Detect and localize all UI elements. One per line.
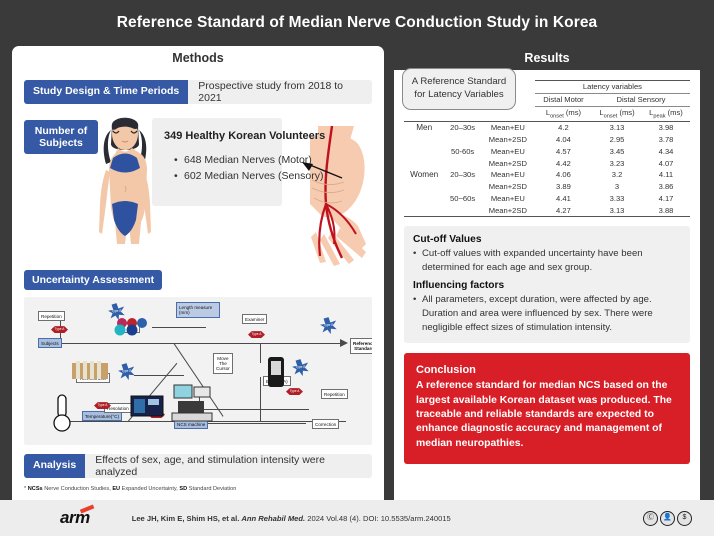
bullet-icon: • <box>413 247 422 274</box>
tape-dots-icon <box>112 315 158 337</box>
node-subjects: Subjects <box>38 338 62 348</box>
table-row: Mean+2SD 4.042.953.78 <box>404 134 690 146</box>
type-a-marker: Type A <box>51 326 68 333</box>
title-bar: Reference Standard of Median Nerve Condu… <box>0 0 714 46</box>
study-design-row: Study Design & Time Periods Prospective … <box>24 80 372 104</box>
type-b-marker: Type B <box>320 317 337 334</box>
subjects-block: Number of Subjects <box>24 118 372 268</box>
table-group-header: Latency variables <box>535 81 690 94</box>
subjects-headline: 349 Healthy Korean Volunteers <box>164 130 325 142</box>
cutoff-bullet: • Cut-off values with expanded uncertain… <box>413 247 681 274</box>
unit-sensory-peak: Lpeak (ms) <box>642 106 690 121</box>
results-body: A Reference Standard for Latency Variabl… <box>394 70 700 506</box>
conclusion-text: A reference standard for median NCS base… <box>416 379 678 451</box>
methods-footnote: * NCSs Nerve Conduction Studies, EU Expa… <box>24 486 372 493</box>
node-length-measure: Length measure (mm) <box>176 302 220 318</box>
table-row: 50-60sMean+EU 4.573.454.34 <box>404 145 690 157</box>
fishbone-diagram: Repetition Subjects Tape Length measure … <box>24 297 372 445</box>
col-distal-sensory: Distal Sensory <box>592 93 690 106</box>
influencing-heading: Influencing factors <box>413 280 681 291</box>
methods-body: Study Design & Time Periods Prospective … <box>12 70 384 506</box>
table-row: Mean+2SD 4.423.234.07 <box>404 157 690 169</box>
unit-motor-onset: Lonset (ms) <box>535 106 592 121</box>
thermometer-rack-icon <box>70 359 114 383</box>
tab-results-label: Results <box>524 51 569 65</box>
type-b-marker: Type B <box>118 363 135 380</box>
analysis-text: Effects of sex, age, and stimulation int… <box>85 454 372 478</box>
node-correction: Correction <box>312 419 339 429</box>
nc-icon: $ <box>677 511 692 526</box>
findings-box: Cut-off Values • Cut-off values with exp… <box>404 226 690 343</box>
table-row: Men20–30sMean+EU 4.23.133.98 <box>404 121 690 133</box>
type-b-marker: Type B <box>292 359 309 376</box>
conclusion-heading: Conclusion <box>416 364 678 376</box>
node-move-cursor: Move The Cursor <box>213 353 233 374</box>
node-repetition-top: Repetition <box>38 311 65 321</box>
panels-container: Methods Study Design & Time Periods Pros… <box>0 46 714 506</box>
table-row: Mean+2SD 3.8933.86 <box>404 181 690 193</box>
subjects-badge-line1: Number of <box>35 125 88 137</box>
license-badges: Ⓒ 👤 $ <box>643 511 692 526</box>
footer-bar: arm Lee JH, Kim E, Shim HS, et al. Ann R… <box>0 500 714 536</box>
type-a-marker: Type A <box>286 388 303 395</box>
epc-device-icon <box>265 355 287 389</box>
uncertainty-badge: Uncertainty Assessment <box>24 270 162 290</box>
latency-table-body: Men20–30sMean+EU 4.23.133.98 Mean+2SD 4.… <box>404 121 690 216</box>
table-row: 50~60sMean+EU 4.413.334.17 <box>404 193 690 205</box>
page-title: Reference Standard of Median Nerve Condu… <box>117 14 598 32</box>
arm-illustration <box>280 124 376 274</box>
cutoff-heading: Cut-off Values <box>413 234 681 245</box>
bullet-icon: • <box>413 293 422 334</box>
table-row: Women20–30sMean+EU 4.063.24.11 <box>404 169 690 181</box>
unit-sensory-onset: Lonset (ms) <box>592 106 642 121</box>
pointer-arrow-icon <box>302 162 344 180</box>
cc-icon: Ⓒ <box>643 511 658 526</box>
arm-logo: arm <box>60 508 90 528</box>
poster-root: Reference Standard of Median Nerve Condu… <box>0 0 714 536</box>
conclusion-box: Conclusion A reference standard for medi… <box>404 353 690 464</box>
thermometer-icon <box>48 393 76 433</box>
node-repetition-bottom: Repetition <box>321 389 348 399</box>
node-reference-standard: Reference Standard <box>350 338 372 354</box>
study-design-badge: Study Design & Time Periods <box>24 80 188 104</box>
analysis-row: Analysis Effects of sex, age, and stimul… <box>24 454 372 478</box>
node-examiner: Examiner <box>242 314 267 324</box>
by-icon: 👤 <box>660 511 675 526</box>
tab-results[interactable]: Results <box>394 46 700 70</box>
tab-methods-label: Methods <box>172 51 223 65</box>
type-a-marker: Type A <box>248 331 265 338</box>
methods-panel: Methods Study Design & Time Periods Pros… <box>12 46 384 506</box>
citation: Lee JH, Kim E, Shim HS, et al. Ann Rehab… <box>132 514 451 523</box>
influencing-bullet: • All parameters, except duration, were … <box>413 293 681 334</box>
ncs-machine-icon <box>170 383 216 425</box>
monitor-icon <box>130 395 164 417</box>
results-panel: Results A Reference Standard for Latency… <box>394 46 700 506</box>
col-distal-motor: Distal Motor <box>535 93 592 106</box>
reference-standard-callout: A Reference Standard for Latency Variabl… <box>402 68 516 110</box>
subjects-badge-line2: Subjects <box>39 137 83 149</box>
table-row: Mean+2SD 4.273.133.88 <box>404 204 690 216</box>
analysis-badge: Analysis <box>24 454 85 478</box>
tab-methods[interactable]: Methods <box>12 46 384 70</box>
study-design-text: Prospective study from 2018 to 2021 <box>188 80 372 104</box>
